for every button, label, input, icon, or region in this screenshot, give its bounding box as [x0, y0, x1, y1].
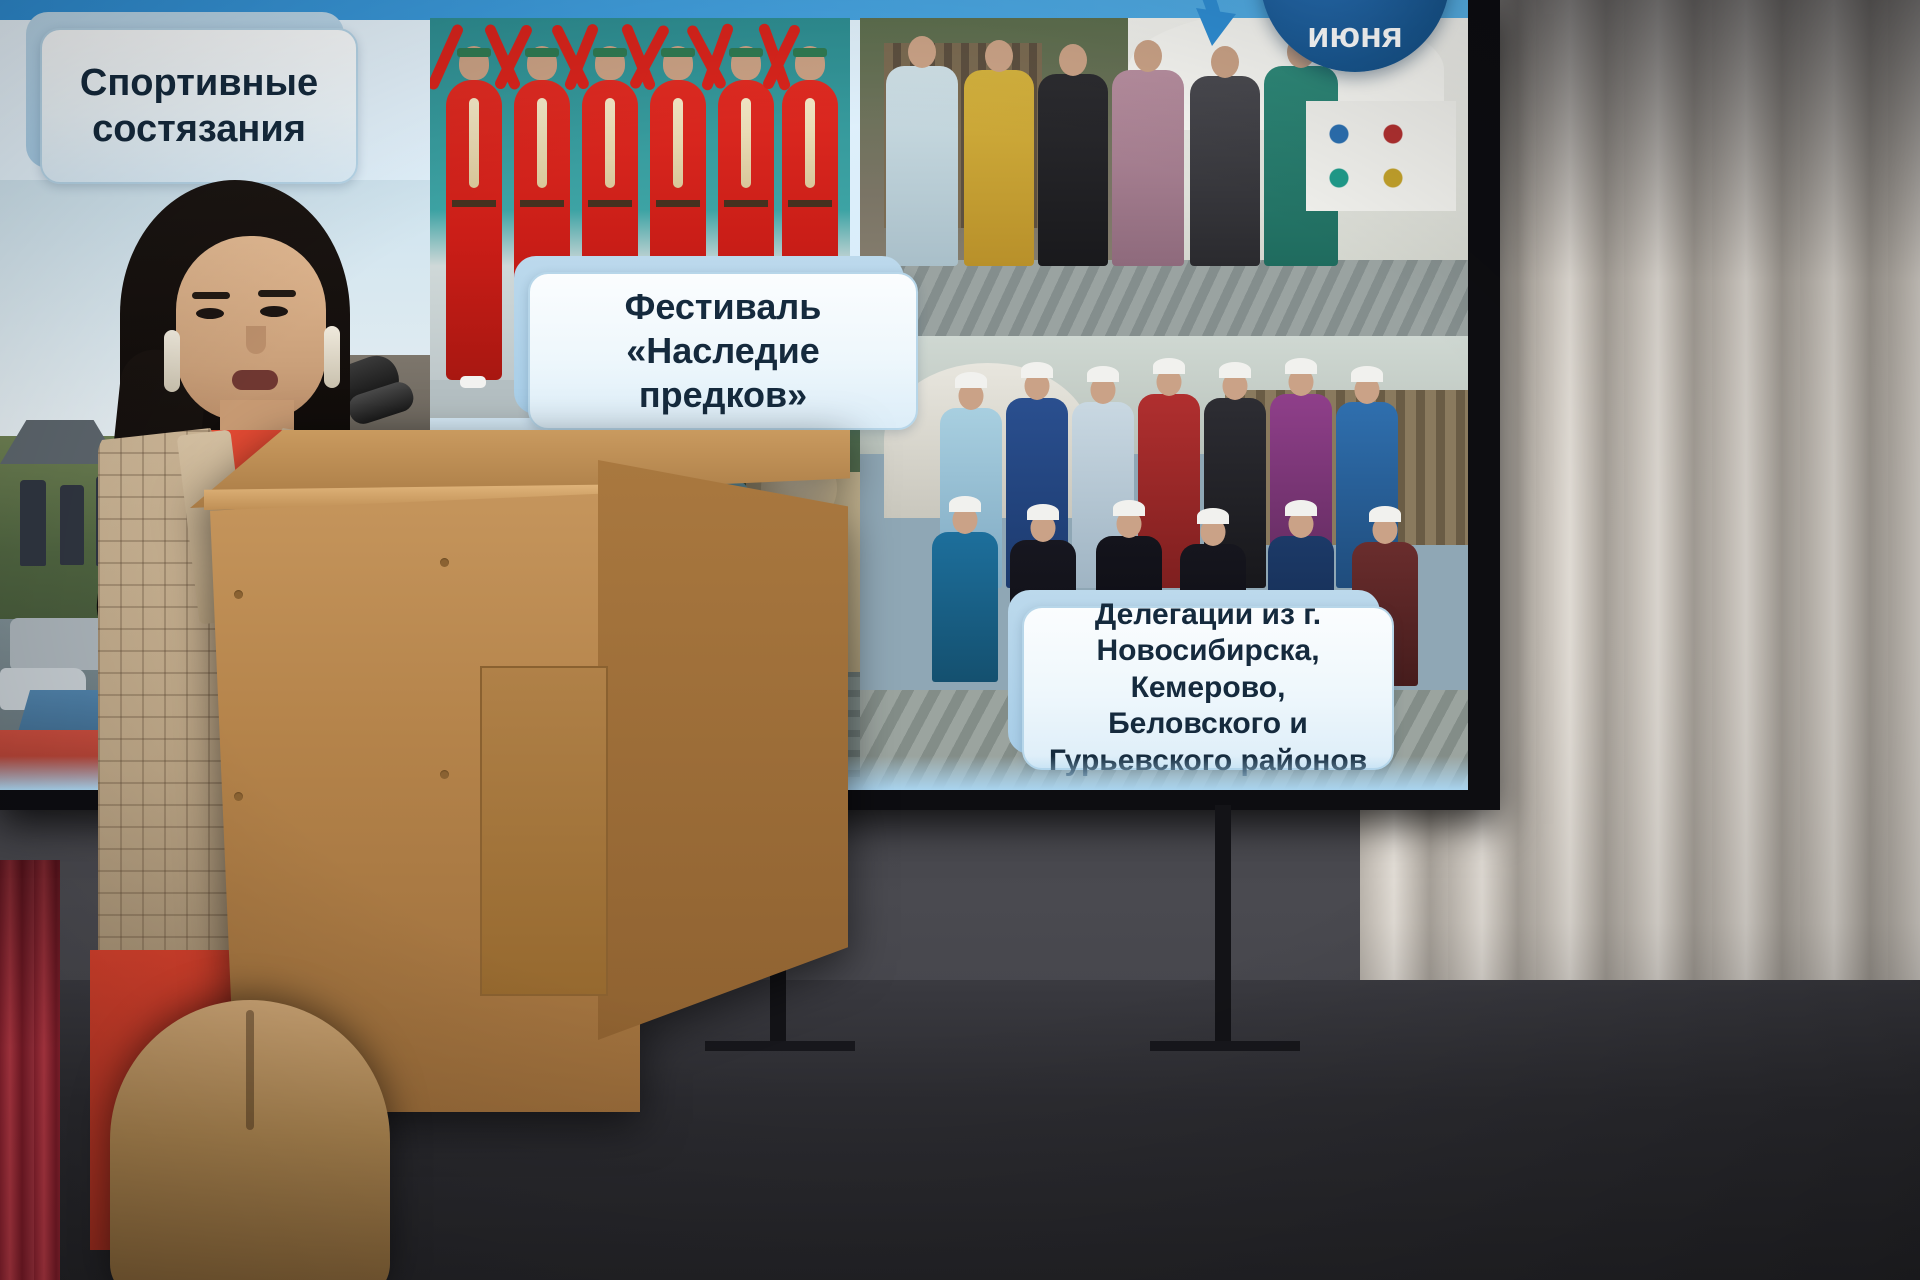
callout-festival-text: Фестиваль «Наследие предков» — [528, 272, 918, 430]
photo-scene: Спортивные состязания Фестиваль «Наследи… — [0, 0, 1920, 1280]
date-badge-label: июня — [1307, 14, 1403, 56]
curved-arrow-icon — [1078, 0, 1248, 52]
callout-delegations: Делегации из г. Новосибирска, Кемерово, … — [1022, 606, 1394, 770]
callout-festival: Фестиваль «Наследие предков» — [528, 272, 918, 430]
callout-sports-text: Спортивные состязания — [40, 28, 358, 184]
callout-delegations-text: Делегации из г. Новосибирска, Кемерово, … — [1022, 606, 1394, 770]
callout-sports: Спортивные состязания — [40, 28, 358, 184]
audience-member-head — [110, 1000, 390, 1280]
